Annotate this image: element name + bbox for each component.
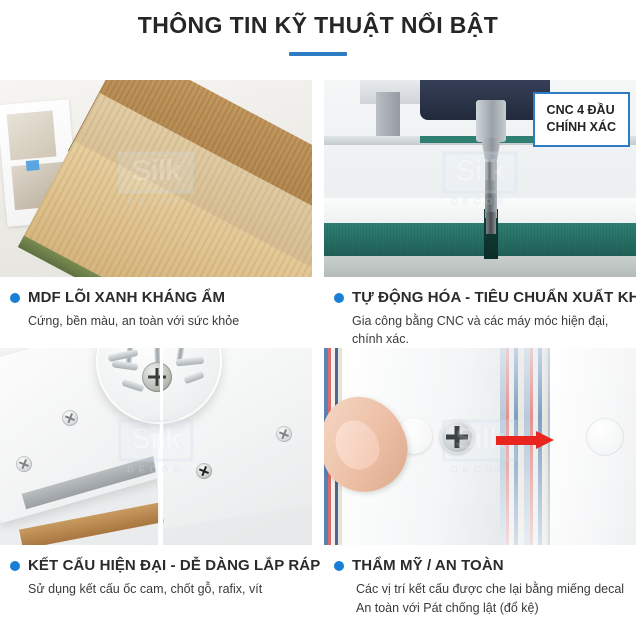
- caption-title-row: KẾT CẤU HIỆN ĐẠI - DỄ DÀNG LẮP RÁP: [10, 557, 312, 574]
- exposed-screw-head: [440, 420, 474, 454]
- cnc-drill-bit-tip: [486, 212, 496, 234]
- photo-cnc-machine: Silk DECOR CNC 4 ĐẦU CHÍNH XÁC: [324, 80, 636, 277]
- wood-dowel: [176, 357, 205, 367]
- brochure-image-top: [7, 111, 57, 161]
- board-underside-shadow: [324, 256, 636, 277]
- caption-subtitle: Sử dụng kết cấu ốc cam, chốt gỗ, rafix, …: [28, 580, 312, 598]
- watermark-mark: Silk: [455, 156, 504, 186]
- brochure-blue-chip: [26, 160, 40, 171]
- arrow-head: [536, 431, 554, 449]
- feature-cell-aesthetic-safety: Silk DECOR THẨM MỸ / AN TOÀN Các vị trí …: [324, 348, 636, 617]
- caption-title: THẨM MỸ / AN TOÀN: [352, 557, 504, 574]
- feature-cell-modern-structure: Silk DECOR KẾT CẤU HIỆN ĐẠI - DỄ DÀNG LẮ…: [0, 348, 312, 617]
- decal-applied-result: [586, 418, 624, 456]
- watermark-box: Silk: [442, 151, 517, 193]
- wood-dowel: [112, 360, 139, 371]
- cnc-collet: [481, 138, 501, 164]
- photo-mdf-boards: Silk DECOR: [0, 80, 312, 277]
- bullet-dot-icon: [10, 561, 20, 571]
- bullet-dot-icon: [334, 293, 344, 303]
- caption-title: TỰ ĐỘNG HÓA - TIÊU CHUẨN XUẤT KHẨU: [352, 289, 636, 306]
- caption-title-row: TỰ ĐỘNG HÓA - TIÊU CHUẨN XUẤT KHẨU: [334, 289, 636, 306]
- red-arrow-icon: [496, 431, 554, 449]
- caption-aesthetic-safety: THẨM MỸ / AN TOÀN Các vị trí kết cấu đượ…: [324, 545, 636, 617]
- caption-title: MDF LÕI XANH KHÁNG ẨM: [28, 289, 225, 306]
- cam-lock-icon: [142, 362, 172, 392]
- title-underline-accent: [289, 52, 347, 56]
- photo-decal-cover: Silk DECOR: [324, 348, 636, 545]
- cnc-badge-line-2: CHÍNH XÁC: [547, 119, 616, 136]
- caption-mdf-core: MDF LÕI XANH KHÁNG ẨM Cứng, bền màu, an …: [0, 277, 312, 330]
- caption-modern-structure: KẾT CẤU HIỆN ĐẠI - DỄ DÀNG LẮP RÁP Sử dụ…: [0, 545, 312, 598]
- feature-grid: Silk DECOR MDF LÕI XANH KHÁNG ẨM Cứng, b…: [0, 80, 636, 618]
- arrow-shaft: [496, 436, 538, 445]
- panel-split-divider: [160, 348, 163, 545]
- caption-title-row: THẨM MỸ / AN TOÀN: [334, 557, 636, 574]
- caption-subtitle: Cứng, bền màu, an toàn với sức khỏe: [28, 312, 312, 330]
- board-green-core: [324, 223, 636, 257]
- page-header: THÔNG TIN KỸ THUẬT NỔI BẬT: [0, 0, 636, 56]
- caption-title-row: MDF LÕI XANH KHÁNG ẨM: [10, 289, 312, 306]
- bullet-dot-icon: [10, 293, 20, 303]
- caption-subtitle-line-2: An toàn với Pát chống lật (đổ kệ): [356, 599, 636, 617]
- cnc-drill-bit: [485, 162, 497, 218]
- feature-cell-automation-cnc: Silk DECOR CNC 4 ĐẦU CHÍNH XÁC TỰ ĐỘNG H…: [324, 80, 636, 348]
- infographic-page: THÔNG TIN KỸ THUẬT NỔI BẬT: [0, 0, 636, 628]
- board-white-surface: [324, 198, 636, 226]
- rafix-connector: [121, 379, 144, 392]
- photo-assembly-hardware: Silk DECOR: [0, 348, 312, 545]
- caption-subtitle: Gia công bằng CNC và các máy móc hiện đạ…: [352, 312, 636, 348]
- fingernail: [327, 413, 387, 476]
- cnc-chuck: [476, 100, 506, 142]
- feature-cell-mdf-core: Silk DECOR MDF LÕI XANH KHÁNG ẨM Cứng, b…: [0, 80, 312, 348]
- page-title: THÔNG TIN KỸ THUẬT NỔI BẬT: [0, 13, 636, 38]
- caption-title: KẾT CẤU HIỆN ĐẠI - DỄ DÀNG LẮP RÁP: [28, 557, 320, 574]
- rafix-connector: [183, 371, 204, 384]
- caption-automation-cnc: TỰ ĐỘNG HÓA - TIÊU CHUẨN XUẤT KHẨU Gia c…: [324, 277, 636, 348]
- cnc-callout-badge: CNC 4 ĐẦU CHÍNH XÁC: [533, 92, 630, 147]
- bullet-dot-icon: [334, 561, 344, 571]
- cnc-badge-line-1: CNC 4 ĐẦU: [547, 102, 616, 119]
- caption-subtitle-line-1: Các vị trí kết cấu được che lại bằng miế…: [356, 580, 636, 598]
